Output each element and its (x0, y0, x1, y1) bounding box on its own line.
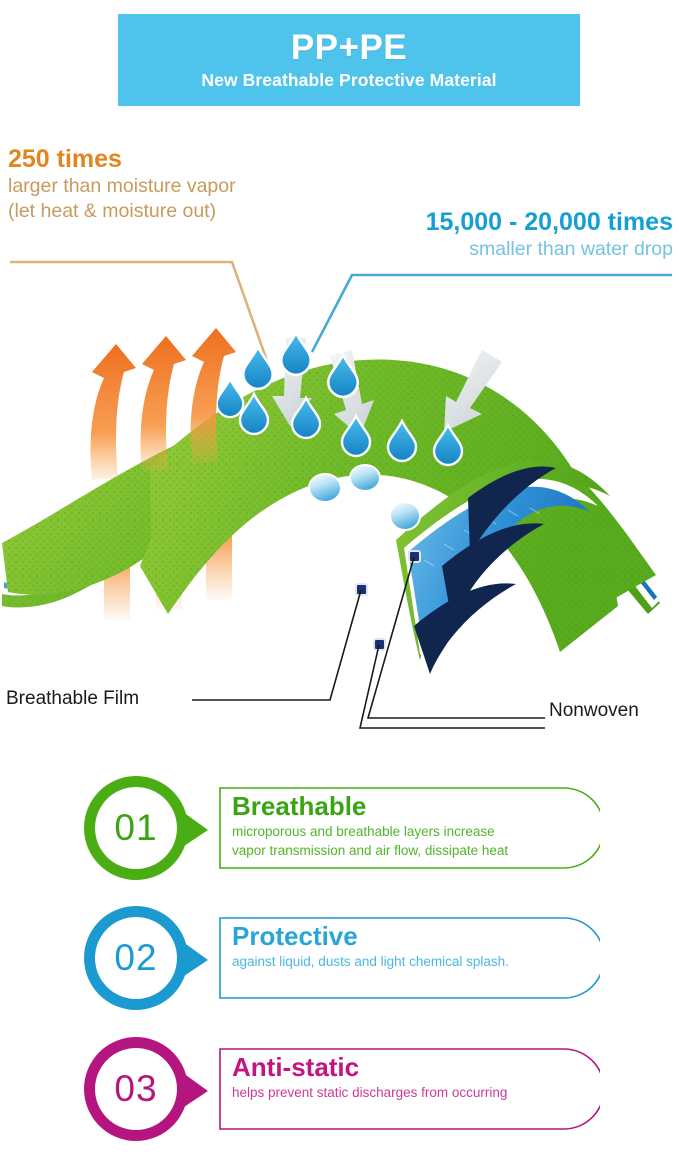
leader-line-left (10, 262, 272, 375)
feature-title-03: Anti-static (232, 1053, 582, 1082)
material-cross-section-diagram (0, 0, 679, 760)
feature-card-protective[interactable]: 02 Protective against liquid, dusts and … (80, 902, 600, 1014)
layer-leader-lines (192, 557, 545, 728)
vapor-arrows-above-icon (91, 328, 237, 480)
leader-line-right (312, 275, 672, 352)
feature-desc-01-line1: microporous and breathable layers increa… (232, 823, 582, 840)
feature-number-03: 03 (80, 1033, 192, 1145)
feature-title-02: Protective (232, 922, 582, 951)
feature-card-anti-static[interactable]: 03 Anti-static helps prevent static disc… (80, 1033, 600, 1145)
feature-desc-03-line1: helps prevent static discharges from occ… (232, 1084, 582, 1101)
label-breathable-film: Breathable Film (6, 688, 139, 710)
feature-card-breathable[interactable]: 01 Breathable microporous and breathable… (80, 772, 600, 884)
label-nonwoven: Nonwoven (549, 700, 639, 722)
feature-desc-02-line1: against liquid, dusts and light chemical… (232, 953, 582, 970)
feature-number-01: 01 (80, 772, 192, 884)
feature-desc-01-line2: vapor transmission and air flow, dissipa… (232, 842, 582, 859)
feature-title-01: Breathable (232, 792, 582, 821)
feature-number-02: 02 (80, 902, 192, 1014)
